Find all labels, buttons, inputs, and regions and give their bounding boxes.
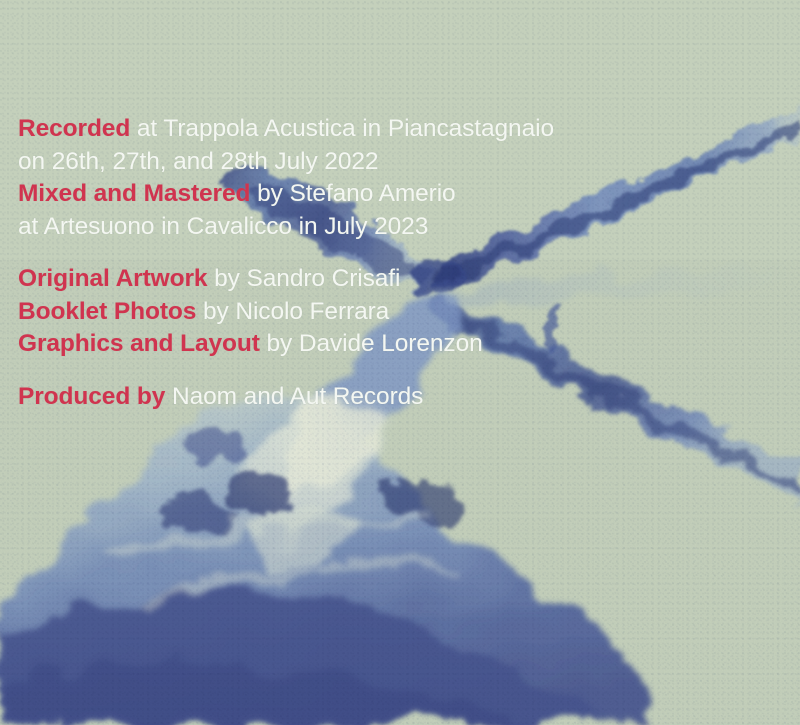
credit-line-recorded: Recorded at Trappola Acustica in Piancas… bbox=[18, 113, 718, 146]
credit-line-produced-by: Produced by Naom and Aut Records bbox=[18, 381, 718, 414]
credit-line-mixed-mastered: Mixed and Mastered by Stefano Amerio bbox=[18, 178, 718, 211]
credits-block: Recorded at Trappola Acustica in Piancas… bbox=[18, 113, 718, 413]
credit-value-mixed-mastered: by Stefano Amerio bbox=[250, 180, 455, 207]
credit-line-dates: on 26th, 27th, and 28th July 2022 bbox=[18, 146, 718, 179]
credit-label-mixed-mastered: Mixed and Mastered bbox=[18, 180, 250, 207]
credit-value-graphics-layout: by Davide Lorenzon bbox=[260, 330, 483, 357]
credit-value-recorded: at Trappola Acustica in Piancastagnaio bbox=[130, 115, 554, 142]
credit-value-original-artwork: by Sandro Crisafi bbox=[207, 265, 400, 292]
credits-group-recording: Recorded at Trappola Acustica in Piancas… bbox=[18, 113, 718, 243]
credits-group-production: Produced by Naom and Aut Records bbox=[18, 381, 718, 414]
album-credits-page: Recorded at Trappola Acustica in Piancas… bbox=[0, 0, 800, 725]
credit-label-produced-by: Produced by bbox=[18, 383, 165, 410]
credit-value-produced-by: Naom and Aut Records bbox=[165, 383, 423, 410]
credits-group-visuals: Original Artwork by Sandro Crisafi Bookl… bbox=[18, 263, 718, 361]
credit-value-booklet-photos: by Nicolo Ferrara bbox=[196, 298, 389, 325]
credit-value-dates: on 26th, 27th, and 28th July 2022 bbox=[18, 148, 378, 175]
credit-label-graphics-layout: Graphics and Layout bbox=[18, 330, 260, 357]
credit-label-recorded: Recorded bbox=[18, 115, 130, 142]
credit-line-graphics-layout: Graphics and Layout by Davide Lorenzon bbox=[18, 328, 718, 361]
credit-line-booklet-photos: Booklet Photos by Nicolo Ferrara bbox=[18, 296, 718, 329]
credit-value-studio: at Artesuono in Cavalicco in July 2023 bbox=[18, 213, 428, 240]
credit-line-original-artwork: Original Artwork by Sandro Crisafi bbox=[18, 263, 718, 296]
credit-line-studio: at Artesuono in Cavalicco in July 2023 bbox=[18, 211, 718, 244]
credit-label-booklet-photos: Booklet Photos bbox=[18, 298, 196, 325]
credit-label-original-artwork: Original Artwork bbox=[18, 265, 207, 292]
